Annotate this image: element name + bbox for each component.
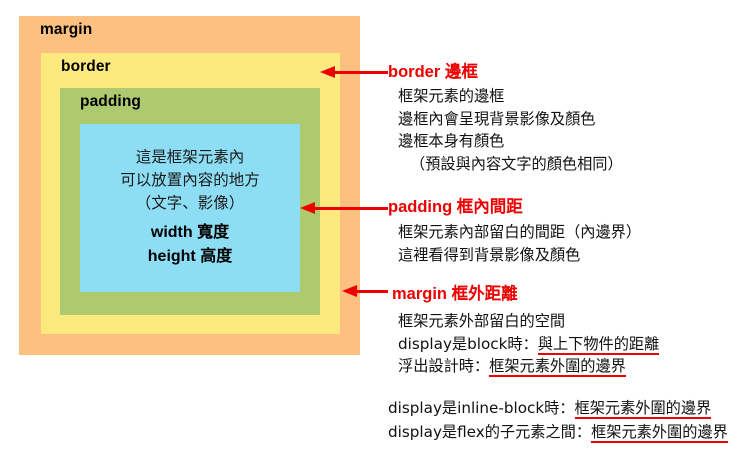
margin-pointer-arrow-icon: [342, 285, 388, 297]
margin-ann-line-3: 浮出設計時：框架元素外圍的邊界: [398, 355, 659, 378]
annotations-panel: border 邊框 框架元素的邊框 邊框內會呈現背景影像及顏色 邊框本身有顏色 …: [388, 0, 750, 461]
arrow-shaft: [310, 207, 388, 210]
padding-ann-line-2: 這裡看得到背景影像及顏色: [398, 244, 641, 267]
border-annotation-heading: border 邊框: [388, 58, 478, 82]
content-box: 這是框架元素內 可以放置內容的地方 （文字、影像） width 寬度 heigh…: [80, 124, 300, 292]
border-ann-line-3: 邊框本身有顏色: [398, 130, 623, 153]
content-line-2: 可以放置內容的地方: [80, 169, 300, 192]
border-box-label: border: [61, 58, 111, 76]
margin-ann-line-5: display是flex的子元素之間：框架元素外圍的邊界: [388, 420, 728, 444]
margin-ann-line-2-prefix: display是block時：: [398, 335, 538, 353]
margin-ann-line-3-prefix: 浮出設計時：: [398, 357, 489, 375]
content-width-label: width 寬度: [80, 221, 300, 245]
margin-ann-line-2-emphasis: 與上下物件的距離: [538, 335, 660, 355]
margin-annotation-body-extra: display是inline-block時：框架元素外圍的邊界 display是…: [388, 396, 728, 444]
margin-ann-line-5-prefix: display是flex的子元素之間：: [388, 423, 591, 441]
padding-box: padding 這是框架元素內 可以放置內容的地方 （文字、影像） width …: [60, 88, 320, 315]
border-ann-line-2: 邊框內會呈現背景影像及顏色: [398, 108, 623, 131]
arrow-shaft: [352, 290, 388, 293]
margin-ann-line-1: 框架元素外部留白的空間: [398, 310, 659, 333]
margin-annotation-body: 框架元素外部留白的空間 display是block時：與上下物件的距離 浮出設計…: [398, 310, 659, 378]
padding-annotation-body: 框架元素內部留白的間距（內邊界） 這裡看得到背景影像及顏色: [398, 221, 641, 266]
margin-box-label: margin: [40, 21, 92, 39]
margin-ann-line-5-emphasis: 框架元素外圍的邊界: [591, 423, 728, 443]
border-annotation-body: 框架元素的邊框 邊框內會呈現背景影像及顏色 邊框本身有顏色 （預設與內容文字的顏…: [398, 85, 623, 175]
margin-ann-line-4-prefix: display是inline-block時：: [388, 399, 575, 417]
padding-pointer-arrow-icon: [300, 202, 388, 214]
border-ann-line-1: 框架元素的邊框: [398, 85, 623, 108]
margin-ann-line-4: display是inline-block時：框架元素外圍的邊界: [388, 396, 728, 420]
content-line-3: （文字、影像）: [80, 192, 300, 215]
margin-ann-line-4-emphasis: 框架元素外圍的邊界: [575, 399, 712, 419]
margin-box: margin border padding 這是框架元素內 可以放置內容的地方 …: [19, 16, 360, 355]
content-box-description: 這是框架元素內 可以放置內容的地方 （文字、影像）: [80, 146, 300, 215]
arrow-shaft: [330, 71, 388, 74]
border-ann-line-4: （預設與內容文字的顏色相同）: [398, 153, 623, 176]
border-pointer-arrow-icon: [320, 66, 388, 78]
border-box: border padding 這是框架元素內 可以放置內容的地方 （文字、影像）…: [41, 53, 340, 334]
padding-ann-line-1: 框架元素內部留白的間距（內邊界）: [398, 221, 641, 244]
margin-annotation-heading: margin 框外距離: [392, 280, 518, 304]
margin-ann-line-2: display是block時：與上下物件的距離: [398, 333, 659, 356]
content-box-dimensions: width 寬度 height 高度: [80, 221, 300, 269]
box-model-infographic: margin border padding 這是框架元素內 可以放置內容的地方 …: [0, 0, 750, 461]
content-line-1: 這是框架元素內: [80, 146, 300, 169]
content-height-label: height 高度: [80, 245, 300, 269]
margin-ann-line-3-emphasis: 框架元素外圍的邊界: [489, 357, 626, 377]
padding-box-label: padding: [80, 93, 141, 111]
padding-annotation-heading: padding 框內間距: [388, 193, 523, 217]
